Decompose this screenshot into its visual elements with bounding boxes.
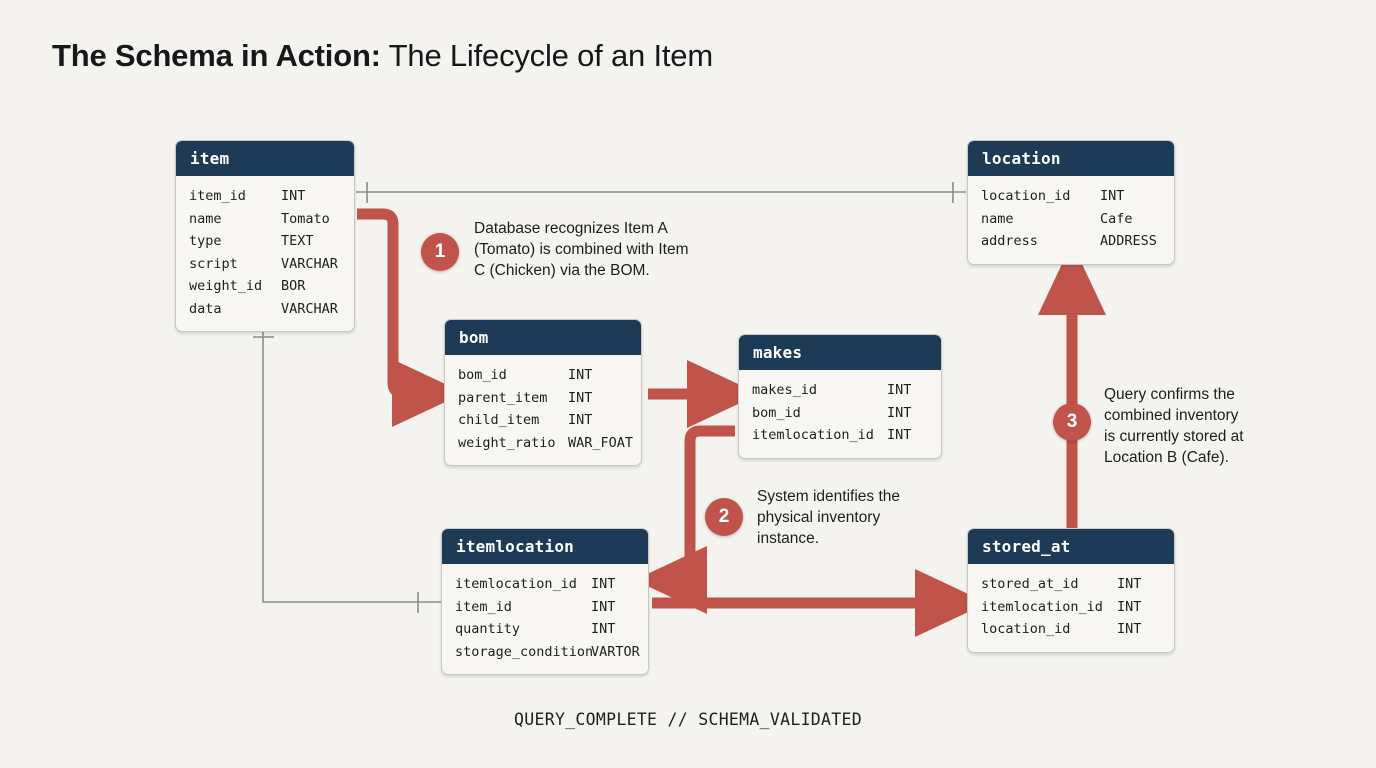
table-row: makes_id INT xyxy=(752,379,928,402)
field-name: itemlocation_id xyxy=(981,596,1117,619)
table-bom[interactable]: bom bom_id INT parent_item INT child_ite… xyxy=(444,319,642,466)
relation-item-location xyxy=(356,182,966,203)
annotation-line: (Tomato) is combined with Item xyxy=(474,239,734,260)
table-row: script VARCHAR xyxy=(189,253,341,276)
table-row: itemlocation_id INT xyxy=(981,596,1161,619)
table-row: itemlocation_id INT xyxy=(752,424,928,447)
table-row: child_item INT xyxy=(458,409,628,432)
field-type: INT xyxy=(1117,573,1141,596)
field-name: stored_at_id xyxy=(981,573,1117,596)
field-type: BOR xyxy=(281,275,305,298)
table-row: address ADDRESS xyxy=(981,230,1161,253)
step-annotation-2: System identifies the physical inventory… xyxy=(757,486,957,549)
annotation-line: instance. xyxy=(757,528,957,549)
field-type: INT xyxy=(887,424,911,447)
field-type: INT xyxy=(568,409,592,432)
field-type: INT xyxy=(887,402,911,425)
field-type: INT xyxy=(568,387,592,410)
field-type: TEXT xyxy=(281,230,314,253)
table-stored-at[interactable]: stored_at stored_at_id INT itemlocation_… xyxy=(967,528,1175,653)
table-row: quantity INT xyxy=(455,618,635,641)
table-row: item_id INT xyxy=(455,596,635,619)
table-row: location_id INT xyxy=(981,185,1161,208)
field-name: name xyxy=(189,208,281,231)
table-row: bom_id INT xyxy=(458,364,628,387)
field-name: item_id xyxy=(189,185,281,208)
field-type: VARCHAR xyxy=(281,298,338,321)
table-row: stored_at_id INT xyxy=(981,573,1161,596)
table-row: storage_condition VARTOR xyxy=(455,641,635,664)
field-type: VARCHAR xyxy=(281,253,338,276)
field-name: makes_id xyxy=(752,379,887,402)
table-stored-at-header: stored_at xyxy=(968,529,1174,564)
table-row: name Cafe xyxy=(981,208,1161,231)
annotation-line: Database recognizes Item A xyxy=(474,218,734,239)
field-type: INT xyxy=(1100,185,1124,208)
field-name: bom_id xyxy=(458,364,568,387)
field-name: address xyxy=(981,230,1100,253)
table-bom-header: bom xyxy=(445,320,641,355)
field-type: WAR_FOAT xyxy=(568,432,633,455)
table-row: bom_id INT xyxy=(752,402,928,425)
table-row: data VARCHAR xyxy=(189,298,341,321)
field-name: weight_ratio xyxy=(458,432,568,455)
table-row: name Tomato xyxy=(189,208,341,231)
field-type: INT xyxy=(591,596,615,619)
table-item-fields: item_id INT name Tomato type TEXT script… xyxy=(176,176,354,331)
field-type: INT xyxy=(281,185,305,208)
field-type: INT xyxy=(887,379,911,402)
table-row: item_id INT xyxy=(189,185,341,208)
table-row: weight_id BOR xyxy=(189,275,341,298)
annotation-line: System identifies the xyxy=(757,486,957,507)
table-bom-fields: bom_id INT parent_item INT child_item IN… xyxy=(445,355,641,465)
annotation-line: C (Chicken) via the BOM. xyxy=(474,260,734,281)
table-makes-fields: makes_id INT bom_id INT itemlocation_id … xyxy=(739,370,941,458)
field-name: name xyxy=(981,208,1100,231)
footer-status: QUERY_COMPLETE // SCHEMA_VALIDATED xyxy=(0,710,1376,729)
field-name: data xyxy=(189,298,281,321)
field-name: script xyxy=(189,253,281,276)
table-row: parent_item INT xyxy=(458,387,628,410)
field-name: parent_item xyxy=(458,387,568,410)
table-row: type TEXT xyxy=(189,230,341,253)
field-name: type xyxy=(189,230,281,253)
field-type: INT xyxy=(1117,618,1141,641)
table-row: location_id INT xyxy=(981,618,1161,641)
field-type: ADDRESS xyxy=(1100,230,1157,253)
field-name: itemlocation_id xyxy=(752,424,887,447)
field-name: quantity xyxy=(455,618,591,641)
table-stored-at-fields: stored_at_id INT itemlocation_id INT loc… xyxy=(968,564,1174,652)
annotation-line: combined inventory xyxy=(1104,405,1304,426)
field-name: storage_condition xyxy=(455,641,591,664)
table-row: weight_ratio WAR_FOAT xyxy=(458,432,628,455)
annotation-line: is currently stored at xyxy=(1104,426,1304,447)
step-annotation-3: Query confirms the combined inventory is… xyxy=(1104,384,1304,468)
field-name: location_id xyxy=(981,185,1100,208)
field-type: Tomato xyxy=(281,208,330,231)
field-type: INT xyxy=(591,618,615,641)
table-item[interactable]: item item_id INT name Tomato type TEXT s… xyxy=(175,140,355,332)
table-location-header: location xyxy=(968,141,1174,176)
table-makes-header: makes xyxy=(739,335,941,370)
field-name: child_item xyxy=(458,409,568,432)
field-name: item_id xyxy=(455,596,591,619)
field-type: INT xyxy=(1117,596,1141,619)
field-type: INT xyxy=(568,364,592,387)
table-location[interactable]: location location_id INT name Cafe addre… xyxy=(967,140,1175,265)
field-name: itemlocation_id xyxy=(455,573,591,596)
table-itemlocation-fields: itemlocation_id INT item_id INT quantity… xyxy=(442,564,648,674)
step-badge-2: 2 xyxy=(705,498,743,536)
field-type: VARTOR xyxy=(591,641,640,664)
table-item-header: item xyxy=(176,141,354,176)
field-type: INT xyxy=(591,573,615,596)
field-type: Cafe xyxy=(1100,208,1133,231)
field-name: bom_id xyxy=(752,402,887,425)
relation-item-itemlocation xyxy=(253,322,446,613)
annotation-line: Query confirms the xyxy=(1104,384,1304,405)
flow-item-to-bom xyxy=(357,214,427,393)
step-badge-3: 3 xyxy=(1053,403,1091,441)
diagram-canvas: The Schema in Action: The Lifecycle of a… xyxy=(0,0,1376,768)
step-badge-1: 1 xyxy=(421,233,459,271)
table-row: itemlocation_id INT xyxy=(455,573,635,596)
table-itemlocation[interactable]: itemlocation itemlocation_id INT item_id… xyxy=(441,528,649,675)
table-location-fields: location_id INT name Cafe address ADDRES… xyxy=(968,176,1174,264)
step-annotation-1: Database recognizes Item A (Tomato) is c… xyxy=(474,218,734,281)
annotation-line: physical inventory xyxy=(757,507,957,528)
field-name: weight_id xyxy=(189,275,281,298)
table-makes[interactable]: makes makes_id INT bom_id INT itemlocati… xyxy=(738,334,942,459)
field-name: location_id xyxy=(981,618,1117,641)
table-itemlocation-header: itemlocation xyxy=(442,529,648,564)
annotation-line: Location B (Cafe). xyxy=(1104,447,1304,468)
